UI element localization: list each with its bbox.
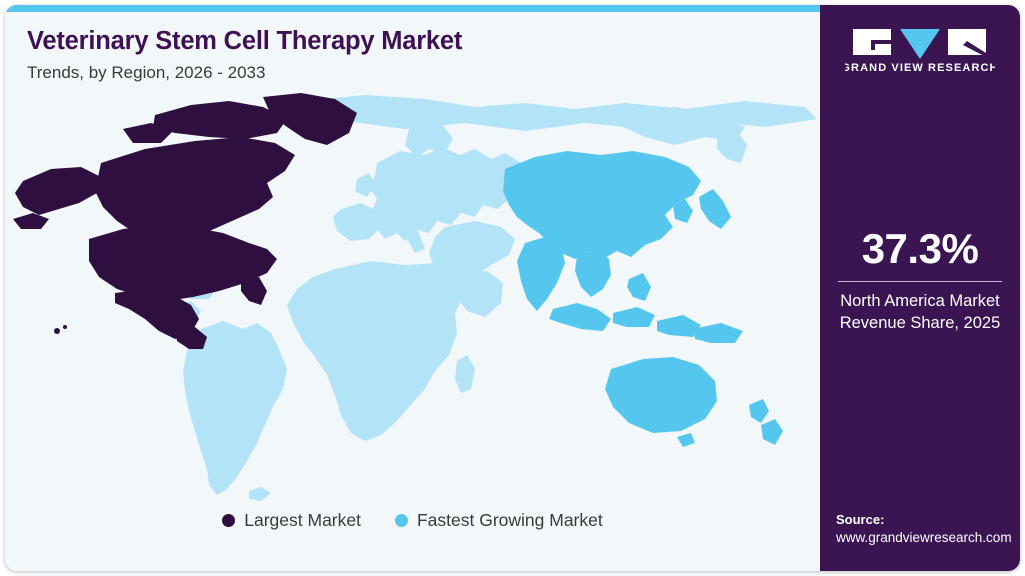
stat-block: 37.3% North America Market Revenue Share… xyxy=(820,227,1020,335)
source-url[interactable]: www.grandviewresearch.com xyxy=(836,529,1012,547)
legend-item-largest-market: Largest Market xyxy=(222,510,361,531)
top-accent-bar xyxy=(5,5,820,12)
legend-dot-fastest-growing-market xyxy=(395,514,408,527)
infographic-card: Veterinary Stem Cell Therapy Market Tren… xyxy=(5,5,1020,571)
grand-view-research-logo: GRAND VIEW RESEARCH xyxy=(845,27,995,77)
stat-caption-line-1: North America Market xyxy=(832,291,1008,313)
page-subtitle: Trends, by Region, 2026 - 2033 xyxy=(27,63,807,83)
infographic-root: Veterinary Stem Cell Therapy Market Tren… xyxy=(0,0,1025,576)
legend-label-largest-market: Largest Market xyxy=(244,510,361,531)
world-map xyxy=(5,93,820,513)
side-panel: GRAND VIEW RESEARCH 37.3% North America … xyxy=(820,5,1020,571)
page-title: Veterinary Stem Cell Therapy Market xyxy=(27,27,807,56)
stat-divider xyxy=(838,281,1002,282)
heading-block: Veterinary Stem Cell Therapy Market Tren… xyxy=(27,27,807,84)
stat-caption-line-2: Revenue Share, 2025 xyxy=(832,313,1008,335)
stat-value: 37.3% xyxy=(832,227,1008,271)
legend-dot-largest-market xyxy=(222,514,235,527)
world-map-svg xyxy=(5,93,820,513)
source-block: Source: www.grandviewresearch.com xyxy=(836,511,1012,547)
legend-item-fastest-growing-market: Fastest Growing Market xyxy=(395,510,603,531)
gvr-logo-icon: GRAND VIEW RESEARCH xyxy=(845,27,995,77)
source-label: Source: xyxy=(836,511,1012,529)
svg-text:GRAND VIEW RESEARCH: GRAND VIEW RESEARCH xyxy=(845,62,995,74)
legend-label-fastest-growing-market: Fastest Growing Market xyxy=(417,510,603,531)
map-legend: Largest Market Fastest Growing Market xyxy=(5,510,820,531)
